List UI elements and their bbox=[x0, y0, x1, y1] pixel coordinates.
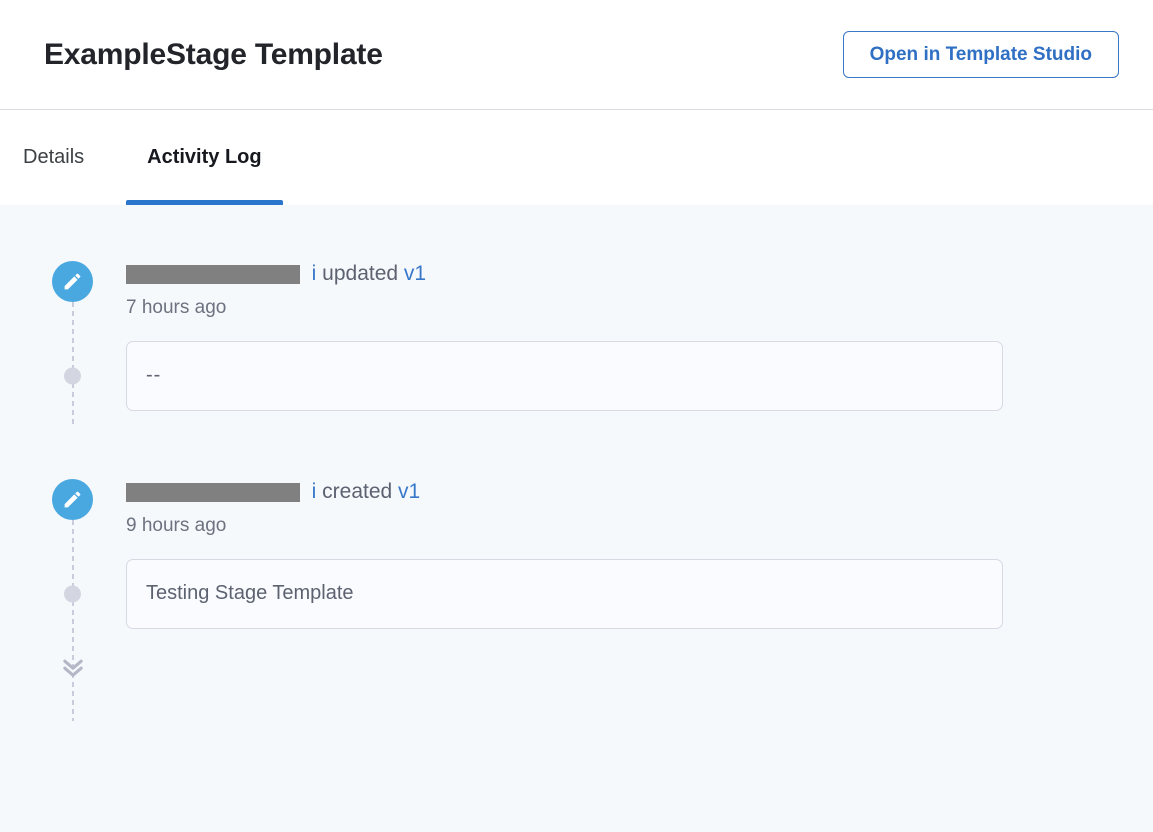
activity-comment-box: -- bbox=[126, 341, 1003, 411]
template-detail-page: ExampleStage Template Open in Template S… bbox=[0, 0, 1153, 832]
version-link[interactable]: v1 bbox=[398, 480, 420, 503]
user-name-suffix: i bbox=[312, 480, 317, 503]
user-name-redacted: Redacted Redactedi bbox=[126, 480, 316, 503]
version-link[interactable]: v1 bbox=[404, 262, 426, 285]
activity-entry: Redacted Redactedi created v1 9 hours ag… bbox=[52, 479, 1153, 707]
open-in-template-studio-button[interactable]: Open in Template Studio bbox=[843, 31, 1119, 78]
tab-details[interactable]: Details bbox=[23, 110, 126, 205]
page-header: ExampleStage Template Open in Template S… bbox=[0, 0, 1153, 110]
activity-entry-text: Redacted Redactedi created v1 bbox=[126, 479, 1153, 506]
activity-log-panel: Redacted Redactedi updated v1 7 hours ag… bbox=[0, 205, 1153, 832]
activity-comment-box: Testing Stage Template bbox=[126, 559, 1003, 629]
activity-timestamp: 7 hours ago bbox=[126, 297, 1153, 319]
activity-entry-text: Redacted Redactedi updated v1 bbox=[126, 261, 1153, 288]
page-title: ExampleStage Template bbox=[44, 38, 383, 72]
tab-activity-log[interactable]: Activity Log bbox=[126, 110, 282, 205]
activity-entry: Redacted Redactedi updated v1 7 hours ag… bbox=[52, 261, 1153, 411]
activity-timeline: Redacted Redactedi updated v1 7 hours ag… bbox=[0, 261, 1153, 707]
tab-bar: Details Activity Log bbox=[0, 110, 1153, 205]
user-name-redacted: Redacted Redactedi bbox=[126, 262, 316, 285]
activity-entry-header: Redacted Redactedi created v1 9 hours ag… bbox=[52, 479, 1153, 537]
activity-action: updated bbox=[322, 262, 398, 285]
entry-spacer bbox=[52, 411, 1153, 479]
load-more-row bbox=[52, 637, 1153, 707]
activity-comment-row: Testing Stage Template bbox=[52, 559, 1153, 629]
redaction-mask bbox=[126, 483, 300, 502]
activity-comment-row: -- bbox=[52, 341, 1153, 411]
pencil-icon bbox=[52, 479, 93, 520]
timeline-dot bbox=[64, 367, 81, 384]
activity-entry-header: Redacted Redactedi updated v1 7 hours ag… bbox=[52, 261, 1153, 319]
timeline-dot bbox=[64, 585, 81, 602]
pencil-icon bbox=[52, 261, 93, 302]
double-chevron-down-icon[interactable] bbox=[59, 653, 87, 681]
activity-action: created bbox=[322, 480, 392, 503]
activity-timestamp: 9 hours ago bbox=[126, 515, 1153, 537]
tab-activity-log-label: Activity Log bbox=[147, 146, 261, 169]
user-name-suffix: i bbox=[312, 262, 317, 285]
tab-details-label: Details bbox=[23, 146, 84, 169]
redaction-mask bbox=[126, 265, 300, 284]
